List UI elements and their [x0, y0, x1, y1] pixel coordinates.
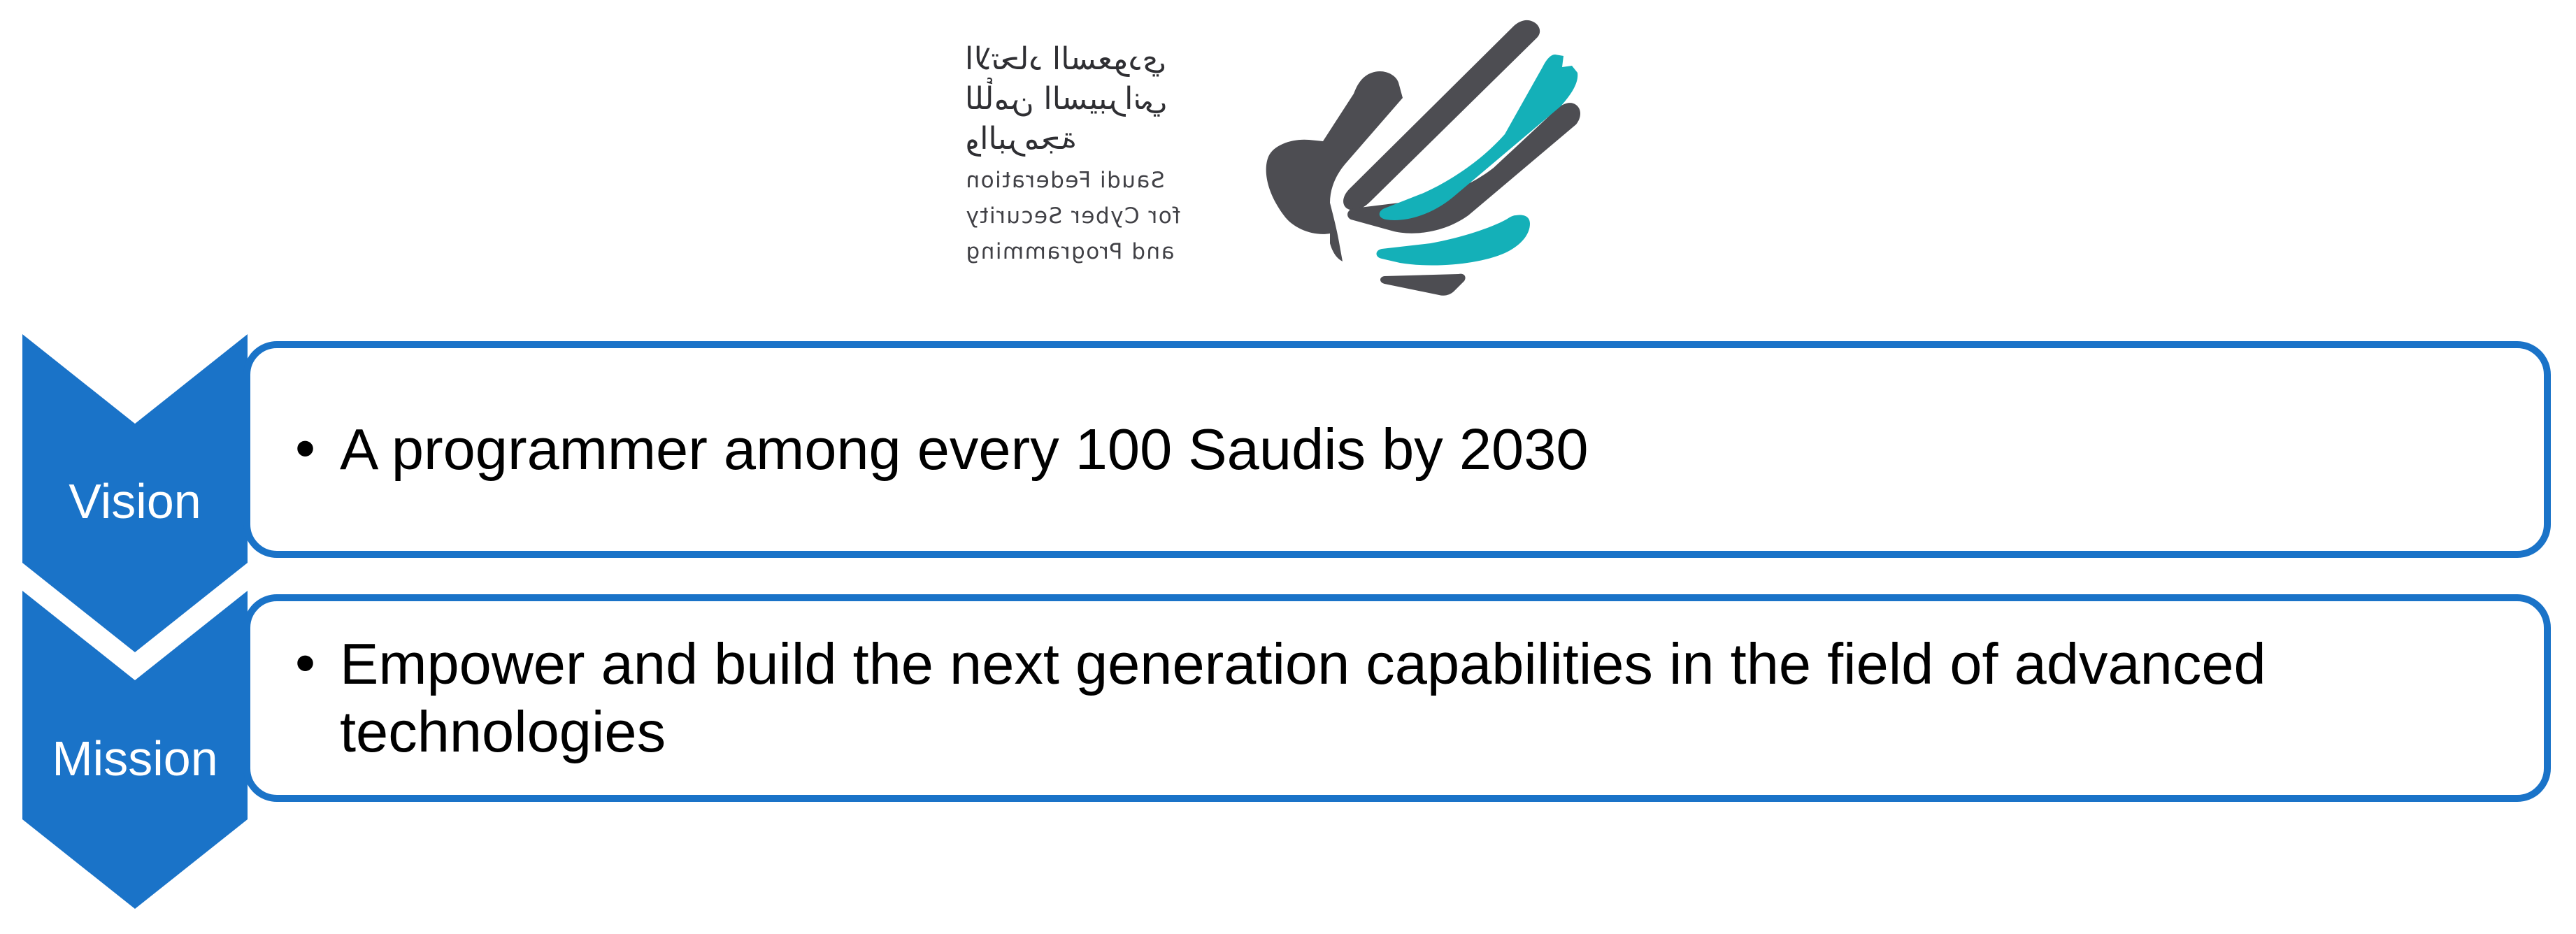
- falcon-wing-logo-icon: [1224, 13, 1587, 299]
- logo-block: الاتحاد السعودي للأمن السيبراني والبرمجة…: [965, 13, 1594, 299]
- logo-arabic-line-2: للأمن السيبراني: [965, 79, 1238, 119]
- logo-arabic-line-3: والبرمجة: [965, 119, 1238, 159]
- callout-box-mission: Empower and build the next generation ca…: [243, 594, 2551, 802]
- vision-bullet-item: A programmer among every 100 Saudis by 2…: [292, 416, 2505, 483]
- mission-bullet-list: Empower and build the next generation ca…: [250, 631, 2544, 766]
- logo-english-line-1: Saudi Federation: [965, 166, 1238, 195]
- chevron-mission[interactable]: [22, 591, 248, 909]
- mission-bullet-item: Empower and build the next generation ca…: [292, 631, 2505, 766]
- callout-box-vision: A programmer among every 100 Saudis by 2…: [243, 341, 2551, 558]
- vision-bullet-list: A programmer among every 100 Saudis by 2…: [250, 416, 2544, 483]
- logo-english-line-2: for Cyber Security: [965, 202, 1238, 231]
- logo-wordmark: الاتحاد السعودي للأمن السيبراني والبرمجة…: [965, 39, 1238, 277]
- logo-english-line-3: and Programming: [965, 238, 1238, 266]
- logo-arabic-line-1: الاتحاد السعودي: [965, 39, 1238, 79]
